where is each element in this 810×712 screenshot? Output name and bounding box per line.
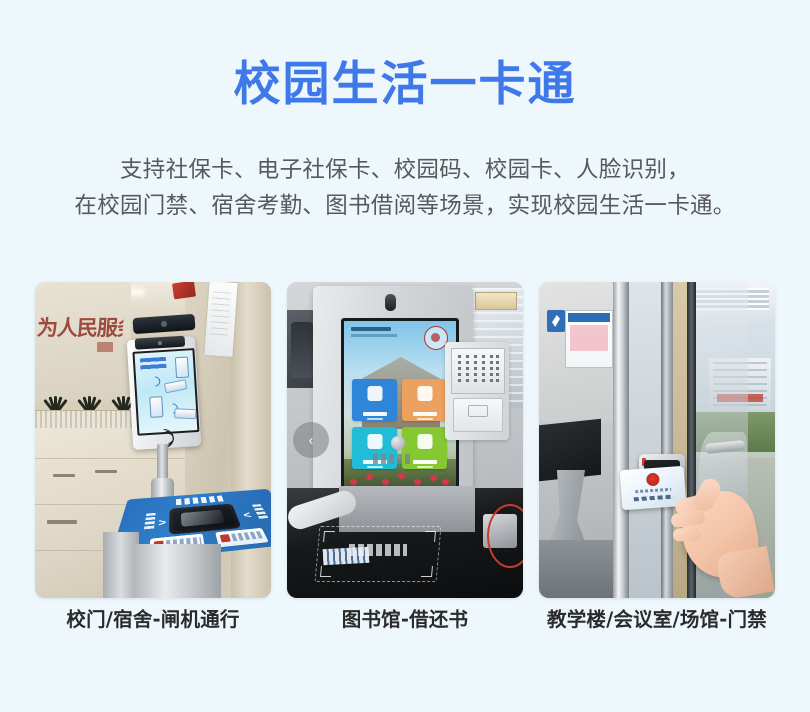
turnstile-housing [103, 532, 139, 598]
phone-illustration [175, 356, 189, 378]
indoor-floor [539, 540, 613, 598]
floor-slot [95, 470, 117, 473]
national-emblem-icon [646, 473, 660, 487]
page-subtitle-line-2: 在校园门禁、宿舍考勤、图书借阅等场景，实现校园生活一卡通。 [0, 188, 810, 224]
kiosk-brand-logo [373, 454, 411, 464]
pos-illustration [174, 408, 196, 419]
scene-photo-row: 为人民服务 [35, 282, 775, 598]
arrow-left-icon: < [242, 511, 253, 521]
kiosk-tile-borrow[interactable] [352, 379, 397, 421]
finger [673, 527, 702, 541]
glass-panel [629, 282, 661, 598]
wrist [715, 546, 774, 598]
plant [73, 378, 107, 414]
carousel-prev-button[interactable]: ‹ [293, 422, 329, 458]
wall-seal [97, 342, 113, 352]
scene-photo-door-access[interactable] [539, 282, 775, 598]
nfc-reader-icon[interactable] [150, 431, 181, 445]
caption-row: 校门/宿舍-闸机通行 图书馆-借还书 教学楼/会议室/场馆-门禁 [35, 606, 775, 634]
caption-library-kiosk: 图书馆-借还书 [287, 606, 523, 634]
screen-title-text [351, 327, 399, 341]
kiosk-knob [391, 436, 405, 450]
scene-photo-library-kiosk[interactable]: ‹ [287, 282, 523, 598]
notice-panel [445, 342, 509, 440]
nfc-wave-icon [148, 374, 162, 388]
phone-illustration [149, 396, 163, 418]
page-subtitle: 支持社保卡、电子社保卡、校园码、校园卡、人脸识别， 在校园门禁、宿舍考勤、图书借… [0, 152, 810, 224]
background-person [291, 322, 313, 378]
page-subtitle-line-1: 支持社保卡、电子社保卡、校园码、校园卡、人脸识别， [0, 152, 810, 188]
account-icon [417, 434, 432, 449]
tile-label [413, 412, 437, 416]
wall-poster [565, 310, 613, 368]
caption-gate-turnstile: 校门/宿舍-闸机通行 [35, 606, 271, 634]
tile-sublabel [367, 418, 383, 420]
borrow-icon [367, 386, 382, 401]
camera-icon [135, 336, 186, 350]
tile-sublabel [367, 466, 383, 468]
notice-paper [204, 282, 237, 357]
camera-icon [385, 294, 396, 311]
arrow-right-icon: > [158, 518, 166, 529]
book-zone-label [349, 544, 407, 556]
floor-slot [47, 520, 77, 524]
card-text-line [635, 488, 671, 494]
info-sign-icon [547, 310, 565, 332]
caption-door-access: 教学楼/会议室/场馆-门禁 [539, 606, 775, 634]
page-title: 校园生活一卡通 [0, 56, 810, 114]
plant [39, 378, 73, 414]
tile-label [413, 460, 437, 464]
turnstile-label-right [252, 504, 269, 520]
wall-calligraphy: 为人民服务 [36, 312, 124, 342]
pillar [231, 282, 271, 598]
instruction-sheet [451, 348, 505, 394]
search-icon [367, 434, 382, 449]
pos-illustration [164, 379, 188, 393]
tile-label [363, 412, 387, 416]
hand-holding-card [667, 478, 763, 590]
tile-sublabel [417, 466, 433, 468]
floor-slot [53, 474, 75, 477]
payment-sticker [215, 528, 269, 548]
turnstile-housing [135, 544, 221, 598]
red-sign [172, 282, 196, 299]
screen-headline [140, 357, 167, 372]
card-tap-area-label [453, 398, 503, 432]
turnstile-label-left [144, 513, 156, 531]
return-icon [417, 386, 432, 401]
face-recognition-terminal[interactable] [127, 336, 202, 450]
door-frame [613, 282, 629, 598]
kiosk-tile-return[interactable] [402, 379, 447, 421]
terminal-screen[interactable] [132, 348, 199, 436]
scene-photo-gate-turnstile[interactable]: 为人民服务 [35, 282, 271, 598]
background-sign [475, 292, 517, 310]
kiosk-touchscreen[interactable] [341, 318, 459, 492]
tile-sublabel [417, 418, 433, 420]
